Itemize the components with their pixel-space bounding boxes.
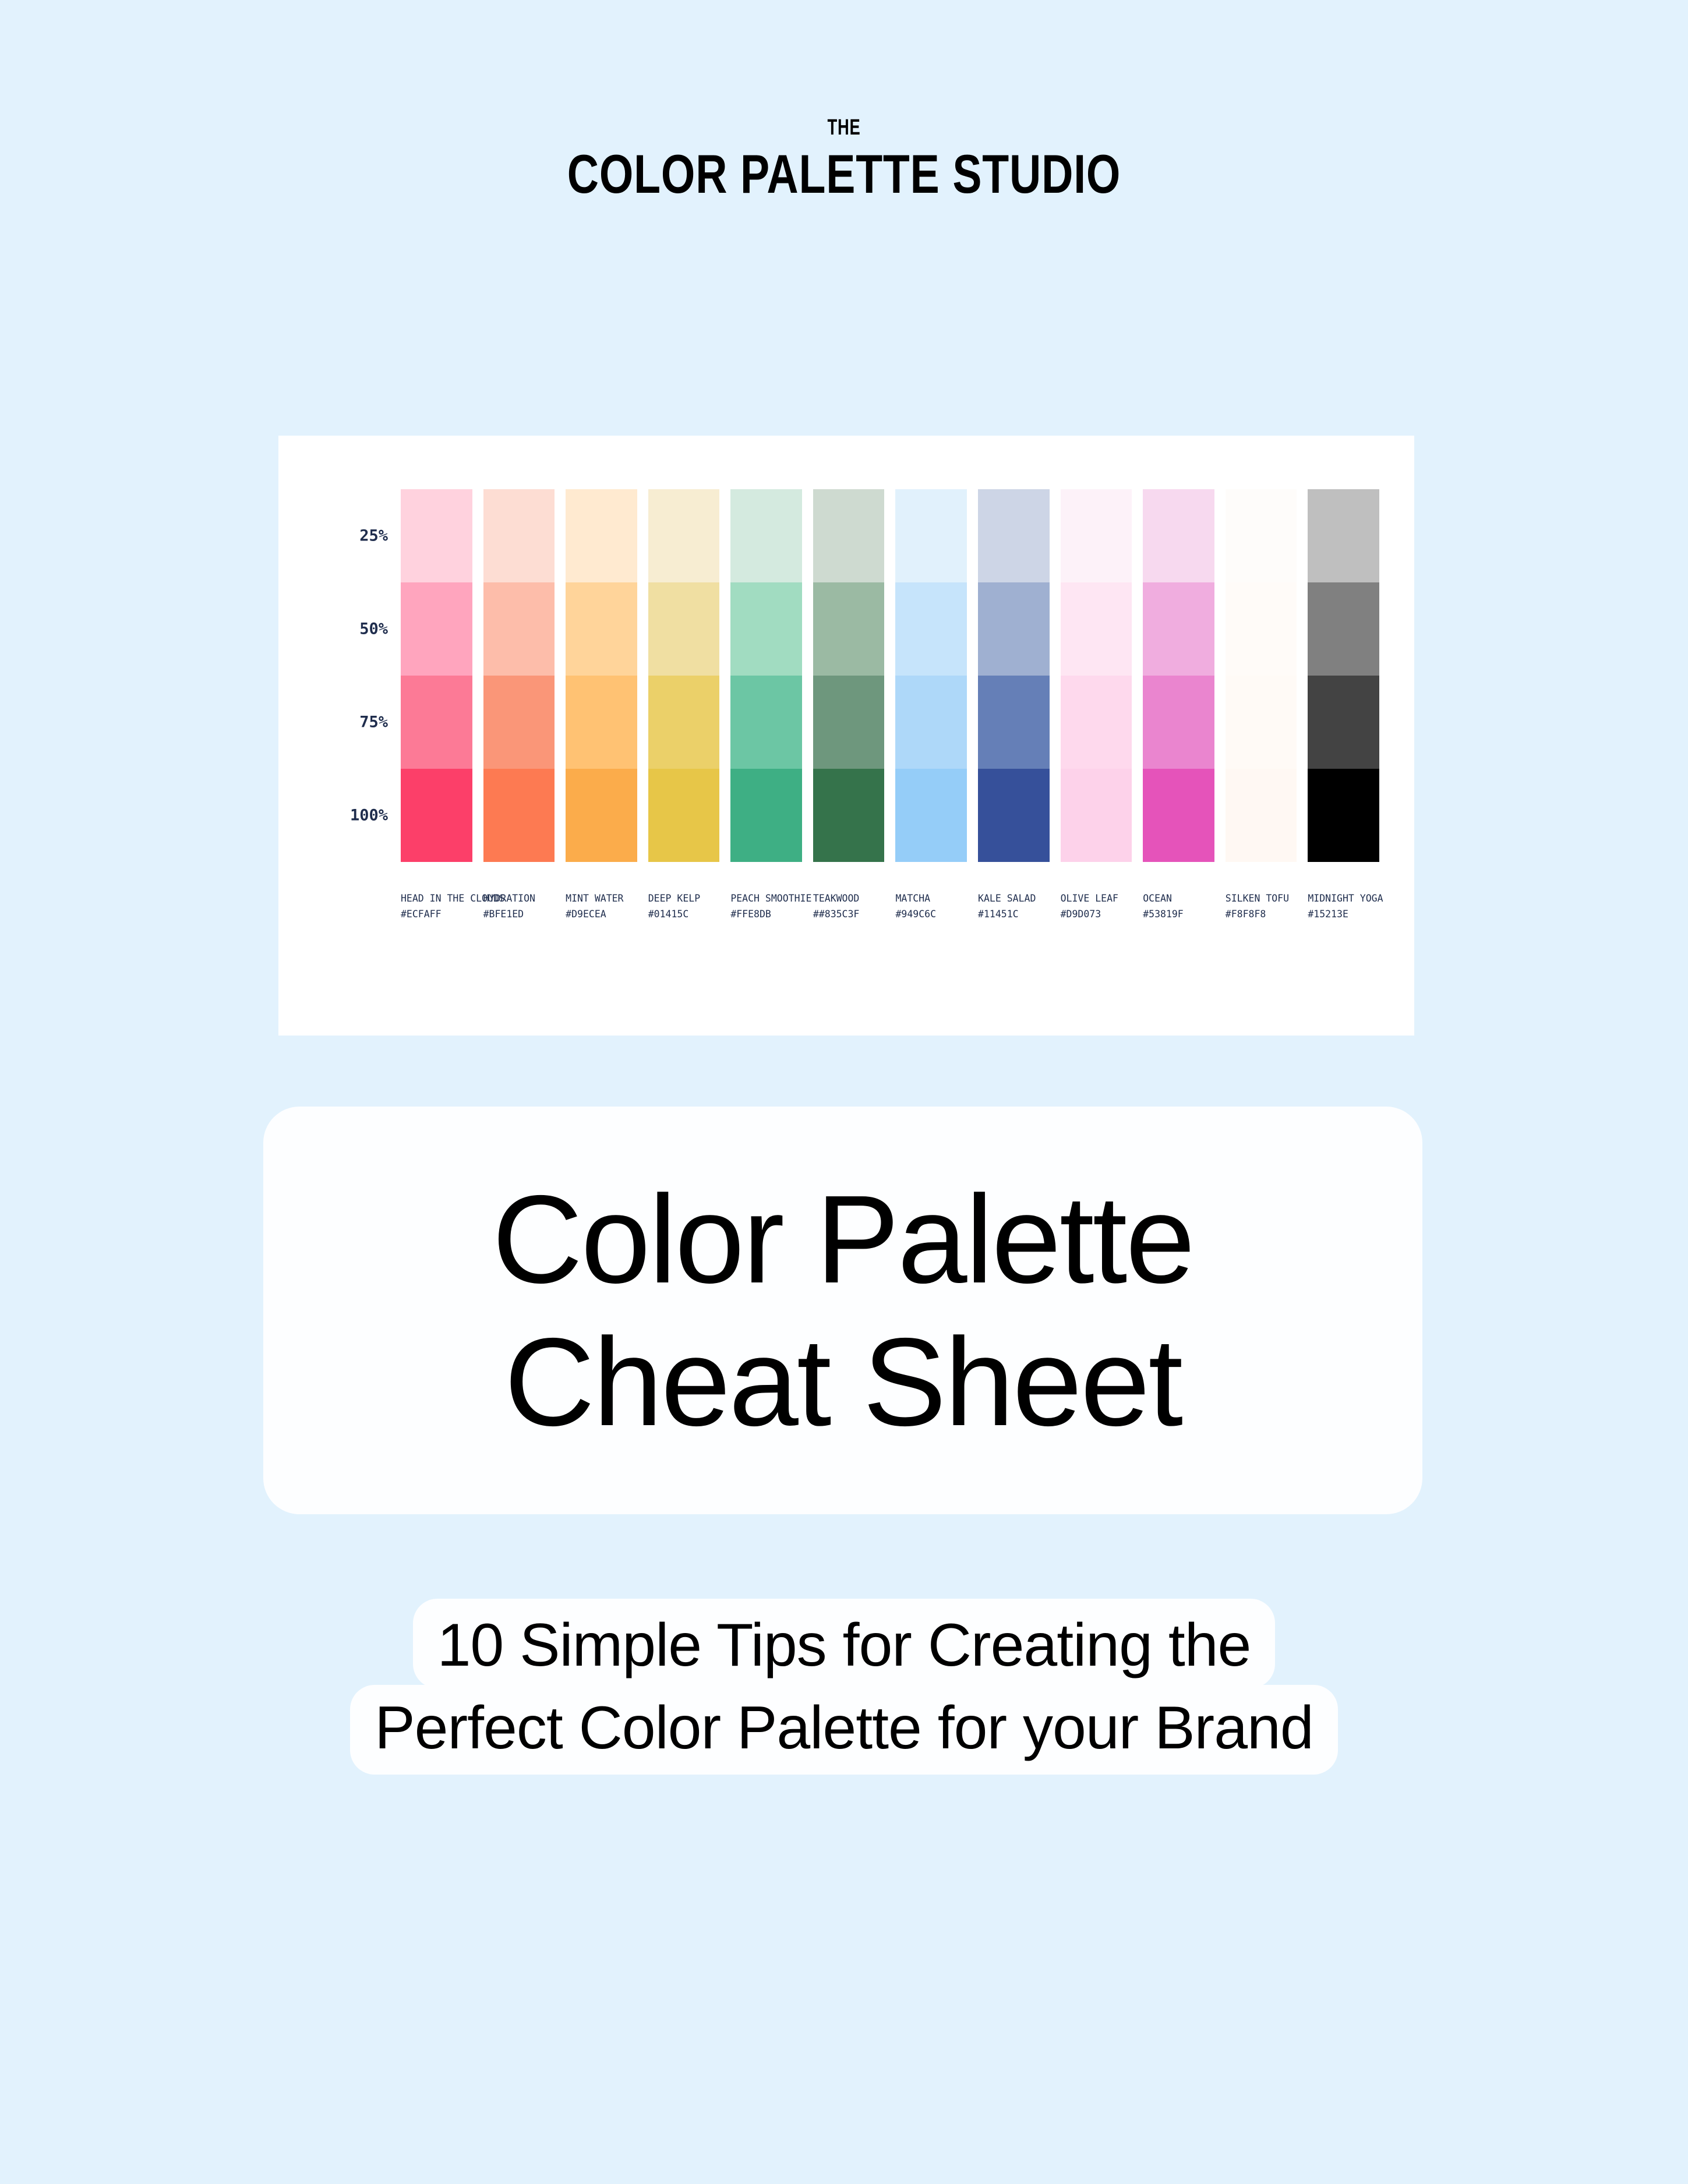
swatch-label-hex: #BFE1ED [483,907,555,923]
swatch-tier[interactable] [1308,489,1379,582]
swatch-tier[interactable] [401,769,472,862]
swatch-label: PEACH SMOOTHIE#FFE8DB [730,891,802,922]
swatch-label-name: MINT WATER [566,891,637,907]
swatch-tier[interactable] [1061,489,1132,582]
swatch-columns [401,489,1379,862]
swatch-column[interactable] [895,489,967,862]
swatch-label-hex: #53819F [1143,907,1214,923]
swatch-label: SILKEN TOFU#F8F8F8 [1226,891,1297,922]
swatch-tier[interactable] [1143,582,1214,676]
swatch-label-name: SILKEN TOFU [1226,891,1297,907]
swatch-label-hex: #F8F8F8 [1226,907,1297,923]
subtitle-line-2: Perfect Color Palette for your Brand [350,1685,1337,1775]
swatch-tier[interactable] [483,676,555,769]
swatch-label-name: MIDNIGHT YOGA [1308,891,1379,907]
swatch-tier[interactable] [566,676,637,769]
swatch-tier[interactable] [648,676,720,769]
brand-header: THE COLOR PALETTE STUDIO [0,116,1688,202]
swatch-tier[interactable] [978,769,1050,862]
swatch-tier[interactable] [401,489,472,582]
swatch-label-name: KALE SALAD [978,891,1050,907]
swatch-tier[interactable] [895,582,967,676]
swatch-label-hex: ##835C3F [813,907,885,923]
swatch-label: HYDRATION#BFE1ED [483,891,555,922]
swatch-tier[interactable] [401,582,472,676]
swatch-labels: HEAD IN THE CLOUDS#ECFAFFHYDRATION#BFE1E… [401,891,1379,922]
swatch-tier[interactable] [978,676,1050,769]
swatch-label: OCEAN#53819F [1143,891,1214,922]
swatch-column[interactable] [813,489,885,862]
swatch-tier[interactable] [1143,676,1214,769]
swatch-tier[interactable] [566,769,637,862]
axis-tick-50: 50% [359,620,388,638]
swatch-tier[interactable] [1061,582,1132,676]
swatch-column[interactable] [1308,489,1379,862]
swatch-tier[interactable] [1226,769,1297,862]
swatch-tier[interactable] [813,769,885,862]
axis-tick-100: 100% [350,807,388,825]
swatch-label-name: OCEAN [1143,891,1214,907]
swatch-tier[interactable] [813,676,885,769]
swatch-column[interactable] [566,489,637,862]
swatch-tier[interactable] [1308,769,1379,862]
swatch-label-hex: #11451C [978,907,1050,923]
swatch-tier[interactable] [1143,769,1214,862]
swatch-label-hex: #15213E [1308,907,1379,923]
subtitle-block: 10 Simple Tips for Creating the Perfect … [0,1599,1688,1775]
title-line-2: Cheat Sheet [504,1310,1181,1453]
swatch-tier[interactable] [648,582,720,676]
swatch-column[interactable] [1143,489,1214,862]
swatch-tier[interactable] [1143,489,1214,582]
palette-chart-card: 25% 50% 75% 100% HEAD IN THE CLOUDS#ECFA… [278,436,1414,1036]
swatch-label-hex: #949C6C [895,907,967,923]
swatch-tier[interactable] [813,582,885,676]
swatch-label-hex: #FFE8DB [730,907,802,923]
swatch-tier[interactable] [978,489,1050,582]
swatch-tier[interactable] [730,489,802,582]
swatch-tier[interactable] [978,582,1050,676]
swatch-column[interactable] [730,489,802,862]
swatch-label-name: PEACH SMOOTHIE [730,891,802,907]
swatch-label: MATCHA#949C6C [895,891,967,922]
swatch-tier[interactable] [1308,582,1379,676]
swatch-column[interactable] [648,489,720,862]
swatch-tier[interactable] [1308,676,1379,769]
title-card: Color Palette Cheat Sheet [263,1107,1422,1514]
swatch-column[interactable] [978,489,1050,862]
swatch-label: MIDNIGHT YOGA#15213E [1308,891,1379,922]
subtitle-line-1: 10 Simple Tips for Creating the [413,1599,1276,1688]
palette-chart: 25% 50% 75% 100% HEAD IN THE CLOUDS#ECFA… [331,489,1379,995]
brand-eyebrow: THE [236,116,1452,139]
swatch-column[interactable] [1226,489,1297,862]
title-line-1: Color Palette [492,1168,1193,1310]
swatch-tier[interactable] [566,582,637,676]
swatch-column[interactable] [1061,489,1132,862]
swatch-label: MINT WATER#D9ECEA [566,891,637,922]
swatch-tier[interactable] [730,676,802,769]
swatch-tier[interactable] [813,489,885,582]
swatch-tier[interactable] [566,489,637,582]
swatch-label-hex: #D9ECEA [566,907,637,923]
swatch-tier[interactable] [895,489,967,582]
swatch-label-hex: #01415C [648,907,720,923]
swatch-label-name: TEAKWOOD [813,891,885,907]
swatch-tier[interactable] [730,769,802,862]
swatch-tier[interactable] [1061,769,1132,862]
swatch-tier[interactable] [648,489,720,582]
swatch-label: OLIVE LEAF#D9D073 [1061,891,1132,922]
swatch-tier[interactable] [1061,676,1132,769]
swatch-tier[interactable] [483,769,555,862]
swatch-label-name: DEEP KELP [648,891,720,907]
swatch-tier[interactable] [648,769,720,862]
swatch-tier[interactable] [895,769,967,862]
swatch-tier[interactable] [483,582,555,676]
swatch-column[interactable] [483,489,555,862]
percentage-axis: 25% 50% 75% 100% [331,489,395,862]
swatch-tier[interactable] [401,676,472,769]
swatch-label-hex: #ECFAFF [401,907,472,923]
swatch-label-name: HEAD IN THE CLOUDS [401,891,472,907]
axis-tick-25: 25% [359,527,388,545]
swatch-label: DEEP KELP#01415C [648,891,720,922]
swatch-tier[interactable] [1226,676,1297,769]
swatch-column[interactable] [401,489,472,862]
axis-tick-75: 75% [359,713,388,731]
swatch-label-name: OLIVE LEAF [1061,891,1132,907]
swatch-tier[interactable] [895,676,967,769]
swatch-label: KALE SALAD#11451C [978,891,1050,922]
swatch-tier[interactable] [730,582,802,676]
swatch-label-name: MATCHA [895,891,967,907]
swatch-tier[interactable] [483,489,555,582]
swatch-label-hex: #D9D073 [1061,907,1132,923]
swatch-label: HEAD IN THE CLOUDS#ECFAFF [401,891,472,922]
swatch-tier[interactable] [1226,582,1297,676]
swatch-label: TEAKWOOD##835C3F [813,891,885,922]
swatch-label-name: HYDRATION [483,891,555,907]
swatch-tier[interactable] [1226,489,1297,582]
brand-name: COLOR PALETTE STUDIO [169,147,1519,202]
